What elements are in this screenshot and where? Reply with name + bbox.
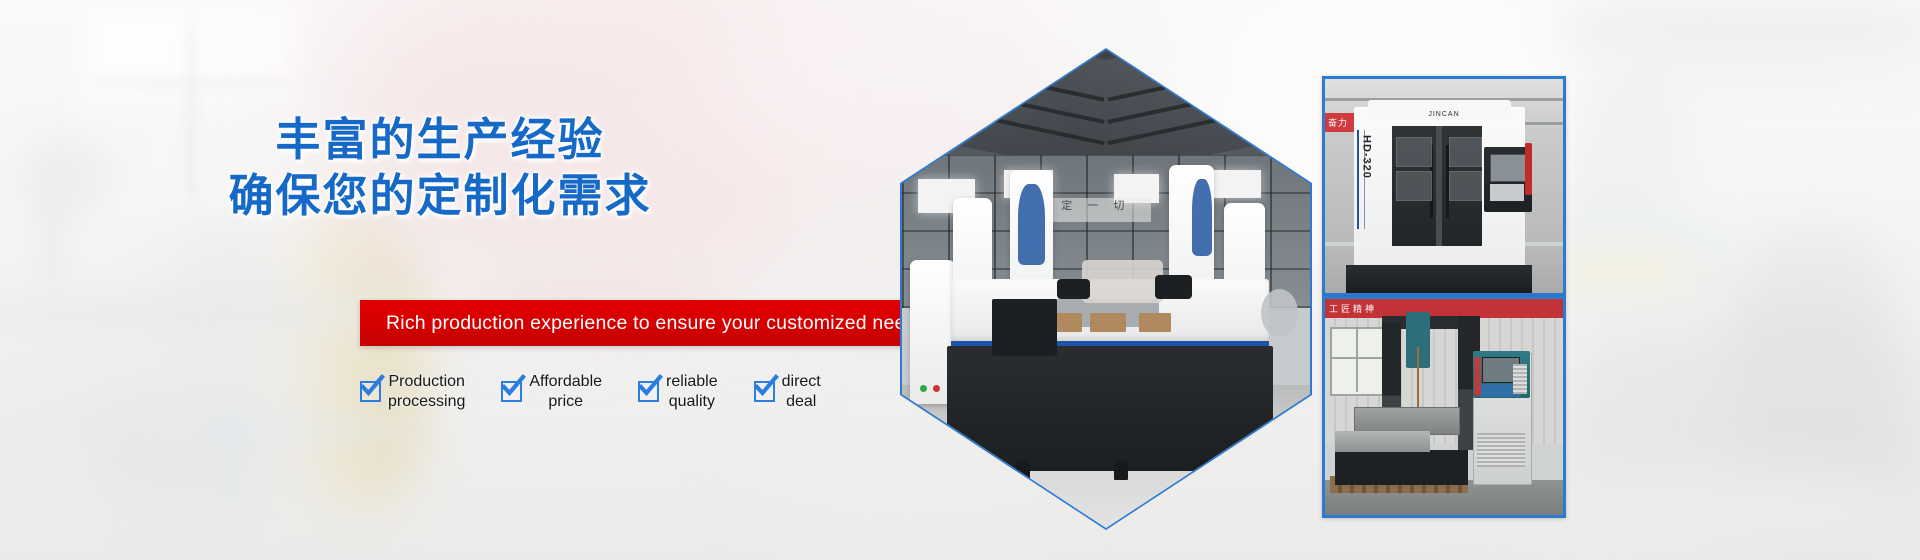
panel-door-glass bbox=[1396, 137, 1431, 167]
checkbox-checked-icon bbox=[501, 381, 520, 400]
headline-line-2: 确保您的定制化需求 bbox=[0, 168, 880, 224]
photo-spindle-head bbox=[1155, 275, 1192, 299]
hero-banner: 丰富的生产经验 确保您的定制化需求 Rich production experi… bbox=[0, 0, 1920, 560]
photo-wrapped-parts bbox=[1082, 260, 1164, 303]
panel-blue-stripe bbox=[1357, 130, 1359, 228]
panel-door-glass bbox=[1449, 137, 1482, 167]
panel-wall-banner-text: 工匠精神 bbox=[1325, 304, 1377, 314]
panel-machine-base bbox=[1335, 450, 1468, 485]
side-photo-edm-machine[interactable]: 工匠精神 bbox=[1322, 296, 1566, 518]
panel-wall-banner-text: 奋力 bbox=[1325, 118, 1348, 128]
photo-base-foot bbox=[1200, 461, 1214, 480]
photo-column-3-window bbox=[1192, 179, 1212, 255]
photo-coil bbox=[1261, 289, 1298, 337]
subtitle-text: Rich production experience to ensure you… bbox=[386, 300, 927, 346]
photo-red-button bbox=[933, 385, 940, 392]
panel-control-buttons bbox=[1474, 357, 1481, 396]
panel-work-table bbox=[1335, 431, 1430, 453]
side-photo-machining-center[interactable]: 奋力 JINCAN HD-320 bbox=[1322, 76, 1566, 296]
subtitle-red-banner: Rich production experience to ensure you… bbox=[360, 300, 905, 346]
feature-label: reliable quality bbox=[666, 372, 718, 412]
feature-item-production-processing[interactable]: Production processing bbox=[360, 372, 465, 412]
hexagon-clip: 定 一 切 bbox=[902, 50, 1310, 528]
factory-machine-photo: 定 一 切 bbox=[902, 50, 1310, 528]
panel-machine-plinth bbox=[1346, 265, 1532, 293]
photo-spindle-head bbox=[1057, 279, 1090, 298]
feature-label: direct deal bbox=[782, 372, 821, 412]
page-title: 丰富的生产经验 确保您的定制化需求 bbox=[0, 112, 880, 224]
hexagon-border: 定 一 切 bbox=[900, 48, 1312, 530]
panel-door-glass bbox=[1449, 171, 1482, 201]
panel-control-keypad bbox=[1490, 184, 1523, 201]
feature-label: Affordable price bbox=[529, 372, 602, 412]
photo-dark-fixture bbox=[992, 299, 1057, 356]
panel-red-accent bbox=[1525, 143, 1532, 194]
panel-door-glass bbox=[1396, 171, 1431, 201]
photo-window bbox=[1212, 170, 1261, 199]
photo-wall-sign: 定 一 切 bbox=[1041, 198, 1151, 222]
panel-brand-logo: JINCAN bbox=[1415, 111, 1472, 120]
feature-list: Production processing Affordable price r… bbox=[360, 372, 905, 428]
headline-line-1: 丰富的生产经验 bbox=[0, 112, 880, 168]
panel-door-gap bbox=[1436, 126, 1442, 246]
panel-vent-grille bbox=[1513, 364, 1527, 394]
panel-window-mullion-h bbox=[1330, 357, 1387, 359]
feature-item-affordable-price[interactable]: Affordable price bbox=[501, 372, 602, 412]
feature-label: Production processing bbox=[388, 372, 465, 412]
panel-control-screen bbox=[1490, 154, 1525, 182]
panel-vent-grille bbox=[1477, 433, 1525, 468]
photo-wall-sign-text: 定 一 切 bbox=[1041, 198, 1151, 216]
hero-hexagon-photo[interactable]: 定 一 切 bbox=[900, 48, 1312, 530]
photo-base-foot bbox=[1016, 461, 1030, 480]
feature-item-reliable-quality[interactable]: reliable quality bbox=[638, 372, 718, 412]
photo-carton bbox=[1090, 313, 1127, 332]
photo-base-foot bbox=[1114, 461, 1128, 480]
panel-window-mullion bbox=[1356, 327, 1358, 392]
photo-green-button bbox=[920, 385, 927, 392]
banner-copy: 丰富的生产经验 确保您的定制化需求 Rich production experi… bbox=[0, 0, 920, 560]
photo-machine-base bbox=[947, 346, 1273, 470]
checkbox-checked-icon bbox=[360, 381, 379, 400]
checkbox-checked-icon bbox=[754, 381, 773, 400]
feature-item-direct-deal[interactable]: direct deal bbox=[754, 372, 821, 412]
panel-model-label: HD-320 bbox=[1361, 135, 1373, 179]
photo-carton bbox=[1139, 313, 1172, 332]
photo-column-2-window bbox=[1018, 184, 1045, 265]
checkbox-checked-icon bbox=[638, 381, 657, 400]
